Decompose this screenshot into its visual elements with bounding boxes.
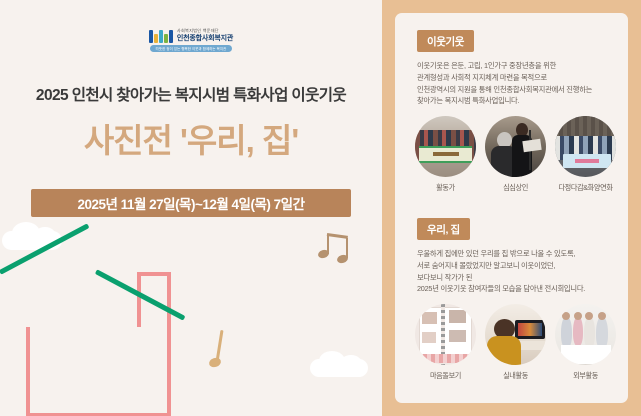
- photo-thumbnail[interactable]: 다정다감&화양연화: [555, 116, 616, 193]
- photo-thumbnail[interactable]: 외부활동: [555, 304, 616, 381]
- house-illustration: [0, 225, 382, 416]
- section-badge: 이웃기웃: [417, 30, 474, 52]
- date-banner: 2025년 11월 27일(목)~12월 4일(목) 7일간: [31, 189, 351, 217]
- poster-title: 사진전 '우리, 집': [0, 114, 382, 162]
- music-note-icon: [209, 330, 229, 366]
- photo-caption: 심심상인: [485, 183, 546, 193]
- body-line: 우울하게 집에만 있던 우리를 집 밖으로 나올 수 있도록,: [417, 248, 613, 260]
- section-body-text: 이웃기웃은 은둔, 고립, 1인가구 중장년층을 위한 관계형성과 사회적 지지…: [417, 60, 613, 107]
- logo-slogan: 따뜻한 정이 있는 행복한 이웃과 함께하는 복지관: [150, 45, 233, 52]
- photo-image: [415, 304, 476, 365]
- info-section-neighbor: 이웃기웃 이웃기웃은 은둔, 고립, 1인가구 중장년층을 위한 관계형성과 사…: [395, 30, 628, 193]
- photo-image: [485, 116, 546, 177]
- photo-image: [415, 116, 476, 177]
- date-banner-text: 2025년 11월 27일(목)~12월 4일(목) 7일간: [77, 193, 304, 213]
- info-card: 이웃기웃 이웃기웃은 은둔, 고립, 1인가구 중장년층을 위한 관계형성과 사…: [395, 13, 628, 403]
- poster-subtitle: 2025 인천시 찾아가는 복지시범 특화사업 이웃기웃: [0, 83, 382, 105]
- photo-thumbnail[interactable]: 마음돌보기: [415, 304, 476, 381]
- body-line: 서로 숨어지내 몰랐었지만 알고보니 이웃이었던,: [417, 260, 613, 272]
- photo-caption: 실내활동: [485, 371, 546, 381]
- poster-right-panel: 이웃기웃 이웃기웃은 은둔, 고립, 1인가구 중장년층을 위한 관계형성과 사…: [382, 0, 641, 416]
- poster-root: 사회복지법인 백운재단 인천종합사회복지관 따뜻한 정이 있는 행복한 이웃과 …: [0, 0, 641, 416]
- house-walls: [26, 327, 171, 416]
- organization-logo: 사회복지법인 백운재단 인천종합사회복지관 따뜻한 정이 있는 행복한 이웃과 …: [0, 28, 382, 52]
- section-badge: 우리, 집: [417, 218, 470, 240]
- photo-image: [485, 304, 546, 365]
- photo-caption: 외부활동: [555, 371, 616, 381]
- poster-left-section: 사회복지법인 백운재단 인천종합사회복지관 따뜻한 정이 있는 행복한 이웃과 …: [0, 0, 382, 416]
- section-body-text: 우울하게 집에만 있던 우리를 집 밖으로 나올 수 있도록, 서로 숨어지내 …: [417, 248, 613, 295]
- body-line: 2025년 이웃기웃 참여자들의 모습을 담아낸 전시회입니다.: [417, 283, 613, 295]
- cloud-icon: [310, 359, 368, 377]
- body-line: 인천광역시의 지원을 통해 인천종합사회복지관에서 진행하는: [417, 84, 613, 96]
- logo-tagline: 사회복지법인 백운재단: [177, 29, 233, 33]
- music-note-pair-icon: [318, 233, 350, 261]
- photo-image: [555, 116, 616, 177]
- photo-thumbnail[interactable]: 심심상인: [485, 116, 546, 193]
- body-line: 찾아가는 복지시범 특화사업입니다.: [417, 95, 613, 107]
- photo-thumbnail-row: 활동가 심심상인 다정다감&화양연화: [415, 116, 628, 193]
- photo-thumbnail[interactable]: 활동가: [415, 116, 476, 193]
- photo-caption: 활동가: [415, 183, 476, 193]
- logo-org-name: 인천종합사회복지관: [177, 35, 233, 42]
- body-line: 보다보니 작가가 된: [417, 272, 613, 284]
- body-line: 관계형성과 사회적 지지체계 마련을 목적으로: [417, 72, 613, 84]
- info-section-ourhouse: 우리, 집 우울하게 집에만 있던 우리를 집 밖으로 나올 수 있도록, 서로…: [395, 218, 628, 381]
- icw-logo-icon: [149, 28, 173, 43]
- photo-thumbnail-row: 마음돌보기 실내활동 외부활동: [415, 304, 628, 381]
- body-line: 이웃기웃은 은둔, 고립, 1인가구 중장년층을 위한: [417, 60, 613, 72]
- photo-image: [555, 304, 616, 365]
- photo-caption: 다정다감&화양연화: [555, 183, 616, 193]
- photo-caption: 마음돌보기: [415, 371, 476, 381]
- photo-thumbnail[interactable]: 실내활동: [485, 304, 546, 381]
